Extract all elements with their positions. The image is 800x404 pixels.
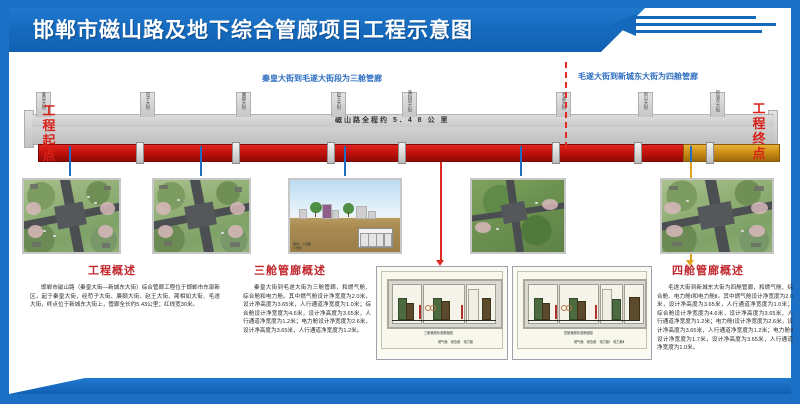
cross-street-label: 新城东大街 xyxy=(712,88,721,114)
cross-street-label: 蔺相如大街 xyxy=(404,88,413,114)
cross-section-drawing-four-cabin[interactable]: 四舱管廊标准断面图 燃气舱 综合舱 电力舱Ⅰ 电力舱Ⅱ xyxy=(512,266,652,360)
panel-body-project-overview: 邯郸市磁山路（秦皇大街—新城东大街）综合管廊工程位于邯郸市东部新区，起于秦皇大街… xyxy=(30,284,220,310)
panel-title-three-cabin: 三舱管廊概述 xyxy=(254,262,326,278)
pipe-joint xyxy=(232,142,240,164)
cross-section-legend: 燃气舱 综合舱 电力舱Ⅰ 电力舱Ⅱ xyxy=(574,339,624,344)
connector-line xyxy=(344,146,346,176)
cross-street-label: 苟子大街 xyxy=(142,88,151,114)
panel-body-three-cabin: 秦皇大街到毛遂大街为三舱管廊，和燃气舱、综合舱和电力舱。其中燃气舱设计净宽度为2… xyxy=(243,284,371,336)
project-end-label: 工程终点 xyxy=(748,101,770,161)
connector-line xyxy=(520,146,522,176)
frame-top-border xyxy=(0,0,800,8)
thumbnail-aerial-lianpo[interactable] xyxy=(152,178,251,254)
cross-street-label: 赵王大街 xyxy=(333,88,342,114)
cross-street-label: 廉颇大街 xyxy=(238,88,247,114)
pipe-joint xyxy=(634,142,642,164)
pipe-joint xyxy=(327,142,335,164)
pipe-joint xyxy=(398,142,406,164)
render-legend: 图例：①道路②管廊 xyxy=(293,242,311,250)
connector-line xyxy=(200,146,202,176)
poster-root: 邯郸市磁山路及地下综合管廊项目工程示意图 秦皇大街到毛遂大街段为三舱管廊 毛遂大… xyxy=(0,0,800,404)
thumbnail-aerial-qinhuang[interactable] xyxy=(22,178,121,254)
thumbnail-tunnel-section-render[interactable]: 图例：①道路②管廊 xyxy=(288,178,402,254)
cross-section-legend: 燃气舱 综合舱 电力舱 xyxy=(438,339,473,344)
pipe-joint xyxy=(136,142,144,164)
road-schematic: 磁山路全程约 5．4 8 公 里 秦皇大街 苟子大街 廉颇大街 赵王大街 蔺相如… xyxy=(10,86,790,164)
connector-line-three-cabin xyxy=(440,162,442,262)
segment-note-three-cabin: 秦皇大街到毛遂大街段为三舱管廊 xyxy=(262,73,382,84)
cross-street-label: 新兴大街 xyxy=(640,88,649,114)
segment-divider-dashed xyxy=(565,62,567,148)
header-chevron-decoration xyxy=(636,14,786,36)
thumbnail-aerial-maosui[interactable] xyxy=(470,178,566,254)
project-start-label: 工程起点 xyxy=(38,103,60,163)
frame-left-border xyxy=(0,0,9,404)
footer-bar xyxy=(9,378,791,394)
pipe-joint xyxy=(552,142,560,164)
panel-title-project-overview: 工程概述 xyxy=(88,262,136,278)
cross-section-drawing-three-cabin[interactable]: 三舱管廊标准断面图 燃气舱 综合舱 电力舱 xyxy=(376,266,508,360)
connector-line xyxy=(69,146,71,176)
panel-body-four-cabin: 毛遂大街到新城东大街为四舱管廊，和燃气舱、综合舱、电力舱Ⅰ和电力舱Ⅱ。其中燃气舱… xyxy=(657,284,793,353)
cross-section-caption: 四舱管廊标准断面图 xyxy=(564,330,593,335)
segment-note-four-cabin: 毛遂大街到新城东大街为四舱管廊 xyxy=(578,71,698,82)
pipe-joint xyxy=(706,142,714,164)
road-length-label: 磁山路全程约 5．4 8 公 里 xyxy=(335,115,449,125)
cross-section-caption: 三舱管廊标准断面图 xyxy=(424,330,453,335)
frame-bottom-border xyxy=(0,394,800,404)
thumbnail-aerial-xinchengdong[interactable] xyxy=(660,178,774,254)
page-title: 邯郸市磁山路及地下综合管廊项目工程示意图 xyxy=(33,14,473,44)
panel-title-four-cabin: 四舱管廊概述 xyxy=(672,262,744,278)
